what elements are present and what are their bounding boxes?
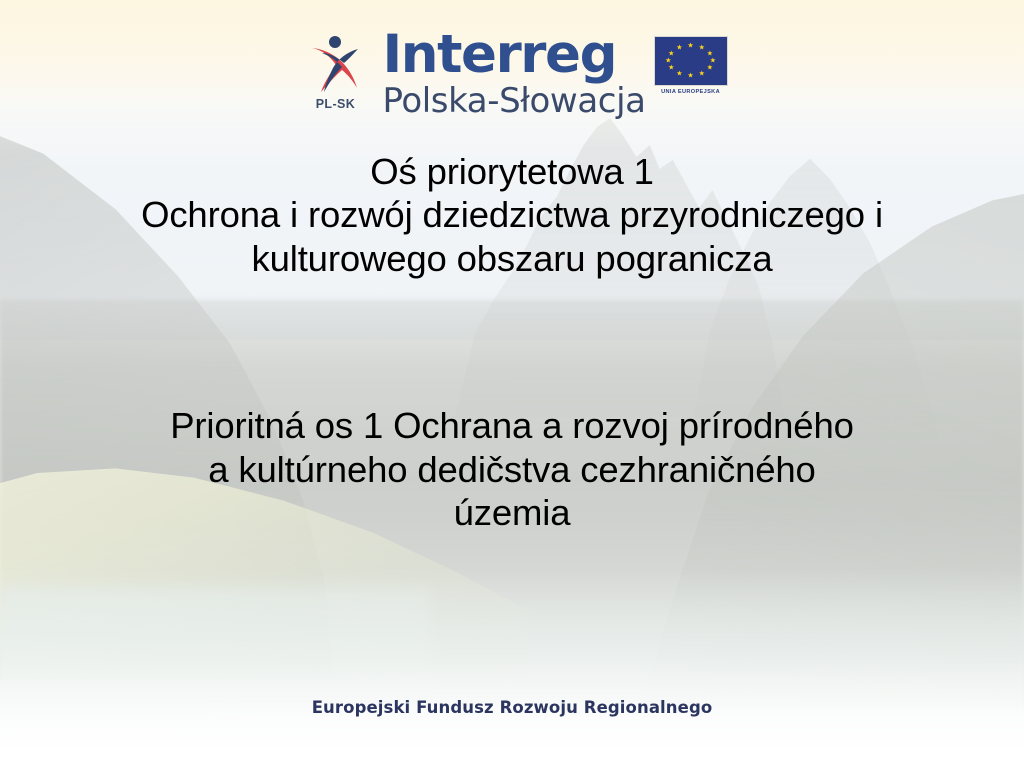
eu-star-icon: ★ — [676, 45, 682, 52]
eu-flag-caption: UNIA EUROPEJSKA — [661, 89, 720, 95]
eu-star-icon: ★ — [687, 43, 693, 50]
interreg-mark-label: PL-SK — [316, 97, 356, 111]
eu-emblem: ★★★★★★★★★★★★ UNIA EUROPEJSKA — [654, 28, 728, 95]
eu-star-icon: ★ — [699, 45, 705, 52]
logo-group: PL-SK Interreg Polska-Słowacja ★★★★★★★★★… — [296, 28, 727, 121]
eu-star-icon: ★ — [699, 70, 705, 77]
interreg-figure-icon: PL-SK — [296, 28, 374, 111]
eu-star-icon: ★ — [676, 70, 682, 77]
interreg-wordmark-bottom: Polska-Słowacja — [382, 81, 645, 121]
presentation-slide: PL-SK Interreg Polska-Słowacja ★★★★★★★★★… — [0, 0, 1024, 768]
eu-star-icon: ★ — [710, 58, 716, 65]
interreg-wordmark: Interreg Polska-Słowacja — [382, 28, 645, 121]
interreg-wordmark-top: Interreg — [382, 30, 645, 81]
logo-bar: PL-SK Interreg Polska-Słowacja ★★★★★★★★★… — [0, 28, 1024, 134]
eu-star-icon: ★ — [668, 50, 674, 57]
footer-funding-line: Europejski Fundusz Rozwoju Regionalnego — [0, 698, 1024, 717]
eu-star-icon: ★ — [707, 65, 713, 72]
title-slovak: Prioritná os 1 Ochrana a rozvoj prírodné… — [40, 404, 984, 534]
slide-content: Oś priorytetowa 1 Ochrona i rozwój dzied… — [40, 150, 984, 535]
paragraph-spacer — [40, 280, 984, 404]
eu-flag-icon: ★★★★★★★★★★★★ — [654, 36, 728, 86]
title-polish: Oś priorytetowa 1 Ochrona i rozwój dzied… — [40, 150, 984, 280]
eu-star-icon: ★ — [707, 50, 713, 57]
eu-star-icon: ★ — [668, 65, 674, 72]
eu-star-icon: ★ — [687, 72, 693, 79]
eu-star-icon: ★ — [665, 58, 671, 65]
